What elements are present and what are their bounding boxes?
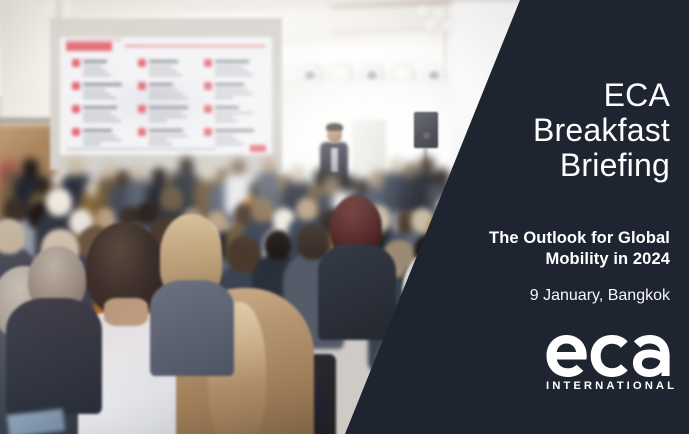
eca-logo-wordmark: INTERNATIONAL: [546, 380, 670, 393]
slide-content-cell: [204, 59, 260, 79]
presentation-slide: ECA Breakfast Briefing The Outlook for G…: [0, 0, 689, 434]
slide-content-cell: [72, 128, 128, 148]
event-subtitle: The Outlook for Global Mobility in 2024: [340, 228, 670, 270]
slide-content-cell: [204, 128, 260, 148]
eca-international-logo: INTERNATIONAL: [546, 333, 670, 395]
slide-content-cell: [204, 105, 260, 125]
event-date-location: 9 January, Bangkok: [340, 286, 670, 306]
audience-member-head: [22, 158, 39, 177]
audience-member-head: [231, 159, 245, 174]
slide-content-cell: [138, 59, 194, 79]
subtitle-line-2: Mobility in 2024: [340, 249, 670, 270]
slide-content-cell: [138, 105, 194, 125]
slide-content-cell: [204, 82, 260, 102]
eca-logo-mark-icon: [546, 333, 670, 379]
audience-member-body: [6, 298, 102, 414]
title-line-1: ECA: [340, 78, 670, 113]
slide-content-cell: [138, 82, 194, 102]
slide-content-cell: [138, 128, 194, 148]
audience-member-neck: [104, 298, 148, 326]
subtitle-line-1: The Outlook for Global: [340, 228, 670, 249]
slide-content-cell: [72, 105, 128, 125]
panel-content: ECA Breakfast Briefing The Outlook for G…: [340, 0, 670, 434]
title-line-2: Breakfast: [340, 113, 670, 148]
audience-member-head: [67, 157, 85, 176]
audience-member-head: [179, 157, 194, 173]
slide-divider: [125, 45, 266, 47]
title-line-3: Briefing: [340, 148, 670, 183]
audience-member-body: [150, 280, 234, 376]
slide-title-block: [66, 42, 112, 51]
slide-kicker-line: [66, 39, 122, 41]
slide-content-cell: [72, 82, 128, 102]
slide-content-cell: [72, 59, 128, 79]
projection-screen: [60, 37, 272, 155]
page-title: ECA Breakfast Briefing: [340, 78, 670, 183]
